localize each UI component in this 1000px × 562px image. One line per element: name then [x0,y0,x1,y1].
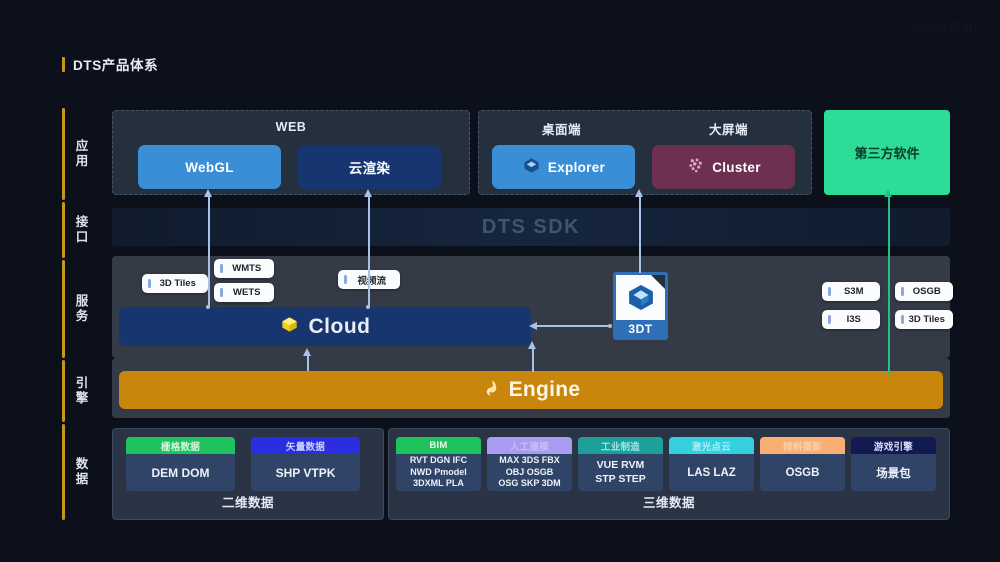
rail-label: 接口 [75,215,90,245]
button-label: Cluster [712,160,761,175]
node-3dt[interactable]: 3DT [613,272,668,340]
bar-engine[interactable]: Engine [119,371,943,409]
hexagon-logo-icon [626,282,656,317]
card-head: 栅格数据 [126,437,235,454]
data-card-industrial[interactable]: 工业制造 VUE RVM STP STEP [578,437,663,491]
rail-item-service: 服务 [62,260,110,358]
explorer-icon [522,156,541,178]
tag-s3m[interactable]: S3M [822,282,880,301]
rail-item-interface: 接口 [62,202,110,258]
title-accent-bar [62,57,65,72]
card-body: OSGB [760,454,845,491]
data-card-oblique-photo[interactable]: 倾斜摄影 OSGB [760,437,845,491]
bar-cloud[interactable]: Cloud [119,307,531,346]
button-webgl[interactable]: WebGL [138,145,281,189]
group-title: WEB [113,120,469,134]
tag-label: WMTS [228,263,267,274]
card-body: SHP VTPK [251,454,360,491]
watermark: SuperMap [910,18,978,33]
page-title-text: DTS产品体系 [73,54,158,74]
tag-3d-tiles-left[interactable]: 3D Tiles [142,274,208,293]
tag-wmts[interactable]: WMTS [214,259,274,278]
data-card-vector[interactable]: 矢量数据 SHP VTPK [251,437,360,491]
rail-item-application: 应用 [62,108,110,200]
rail-item-data: 数据 [62,424,110,520]
cloud-hexagon-icon [280,315,299,339]
card-head: 游戏引擎 [851,437,936,454]
card-head: 工业制造 [578,437,663,454]
button-cloud-render[interactable]: 云渲染 [298,145,441,189]
rail-item-engine: 引擎 [62,360,110,422]
card-head: BIM [396,437,481,454]
button-explorer[interactable]: Explorer [492,145,635,189]
layer-rail: 应用 接口 服务 引擎 数据 [62,108,110,520]
diagram-canvas: SuperMap DTS产品体系 应用 接口 服务 引擎 数据 WEB [0,0,1000,562]
tag-label: 3D Tiles [909,314,946,325]
tag-label: WETS [228,287,267,298]
tag-label: OSGB [909,286,946,297]
tag-label: 3D Tiles [156,278,201,289]
data-card-raster[interactable]: 栅格数据 DEM DOM [126,437,235,491]
button-label: WebGL [185,160,234,175]
panel-third-party-software[interactable]: 第三方软件 [824,110,950,195]
rail-label: 引擎 [75,376,90,406]
page-title: DTS产品体系 [62,54,158,74]
bar-dts-sdk: DTS SDK [112,208,950,246]
card-body: VUE RVM STP STEP [578,454,663,491]
tag-3d-tiles-right[interactable]: 3D Tiles [895,310,953,329]
group-title-desktop: 桌面端 [478,119,645,138]
card-body: LAS LAZ [669,454,754,491]
rail-label: 应用 [75,139,90,169]
data-card-bim[interactable]: BIM RVT DGN IFC NWD Pmodel 3DXML PLA [396,437,481,491]
card-body: 场景包 [851,454,936,491]
button-label: 云渲染 [349,157,390,177]
tag-osgb[interactable]: OSGB [895,282,953,301]
card-head: 倾斜摄影 [760,437,845,454]
button-cluster[interactable]: Cluster [652,145,795,189]
data-card-game-engine[interactable]: 游戏引擎 场景包 [851,437,936,491]
tag-wets[interactable]: WETS [214,283,274,302]
rail-label: 服务 [75,294,90,324]
tag-label: S3M [836,286,873,297]
engine-flame-icon [482,379,500,402]
rail-label: 数据 [75,457,90,487]
card-head: 人工建模 [487,437,572,454]
cloud-label: Cloud [309,315,371,339]
data-card-manual-modeling[interactable]: 人工建模 MAX 3DS FBX OBJ OSGB OSG SKP 3DM [487,437,572,491]
engine-label: Engine [509,378,581,402]
group-title-bigscreen: 大屏端 [645,119,812,138]
cluster-icon [686,156,705,178]
sdk-label: DTS SDK [482,216,580,239]
tag-label: 视频流 [352,273,393,287]
card-body: DEM DOM [126,454,235,491]
card-head: 矢量数据 [251,437,360,454]
data-card-point-cloud[interactable]: 激光点云 LAS LAZ [669,437,754,491]
tag-i3s[interactable]: I3S [822,310,880,329]
third-party-label: 第三方软件 [854,143,919,162]
group-label: 二维数据 [113,492,383,511]
tag-label: I3S [836,314,873,325]
card-head: 激光点云 [669,437,754,454]
group-label: 三维数据 [389,492,949,511]
3dt-label: 3DT [616,320,665,337]
card-body: RVT DGN IFC NWD Pmodel 3DXML PLA [396,454,481,491]
button-label: Explorer [548,160,605,175]
card-body: MAX 3DS FBX OBJ OSGB OSG SKP 3DM [487,454,572,491]
